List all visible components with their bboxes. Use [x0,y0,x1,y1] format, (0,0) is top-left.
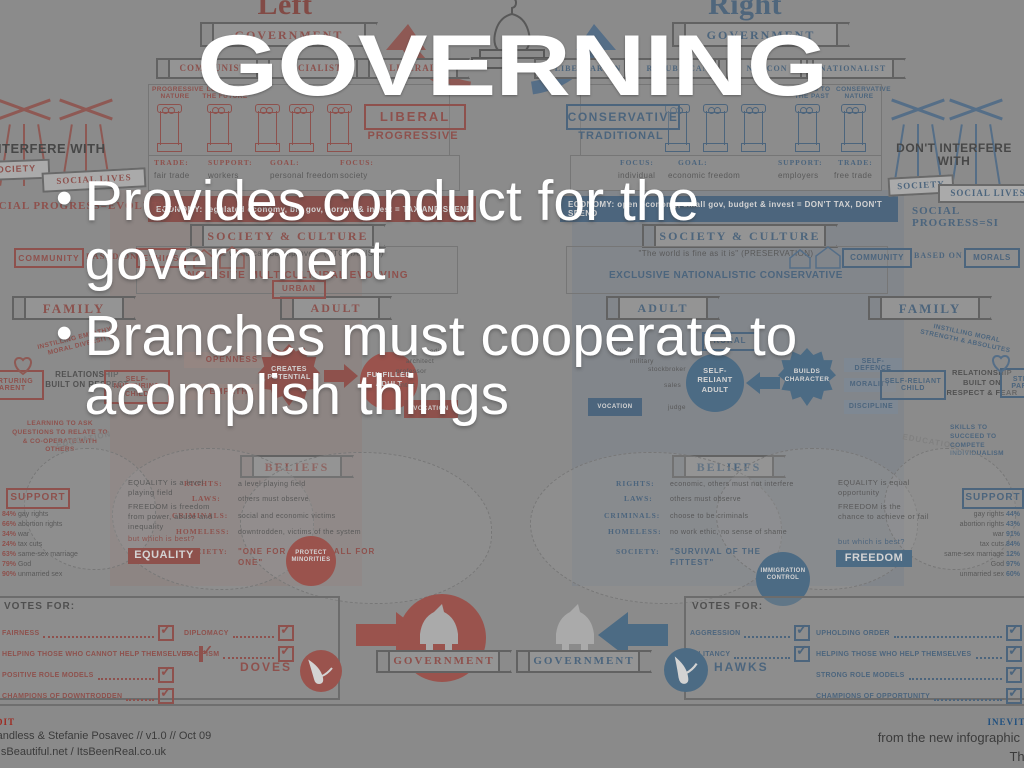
presentation-slide: Left Right GOVERNMENT GOVERNMENT COMMUNI… [0,0,1024,768]
bullet-text-2: Branches must cooperate to acomplish thi… [84,307,984,424]
slide-foreground: GOVERNING • Provides conduct for the gov… [0,0,1024,768]
bullet-glyph: • [56,172,72,225]
slide-footer: CREDIT McCandless & Stefanie Posavec // … [0,704,1024,768]
bullet-glyph: • [56,307,72,360]
footer-credit-heading: CREDIT [0,716,211,729]
footer-book-line-2: The Visual Miscell [878,748,1024,767]
page-title: GOVERNING [0,26,1024,108]
bullet-list: • Provides conduct for the government • … [56,172,984,443]
footer-book-heading: INEVITABLE CAPITALIS [878,716,1024,729]
list-item: • Provides conduct for the government [56,172,984,289]
footer-book-line-1: from the new infographic book of visual … [878,729,1024,748]
footer-credit-left: CREDIT McCandless & Stefanie Posavec // … [0,716,211,761]
bullet-text-1: Provides conduct for the government [84,172,984,289]
footer-credit-line-1: McCandless & Stefanie Posavec // v1.0 //… [0,729,211,745]
footer-credit-right: INEVITABLE CAPITALIS from the new infogr… [878,716,1024,767]
list-item: • Branches must cooperate to acomplish t… [56,307,984,424]
footer-credit-line-2: ationIsBeautiful.net / ItsBeenReal.co.uk [0,745,211,761]
